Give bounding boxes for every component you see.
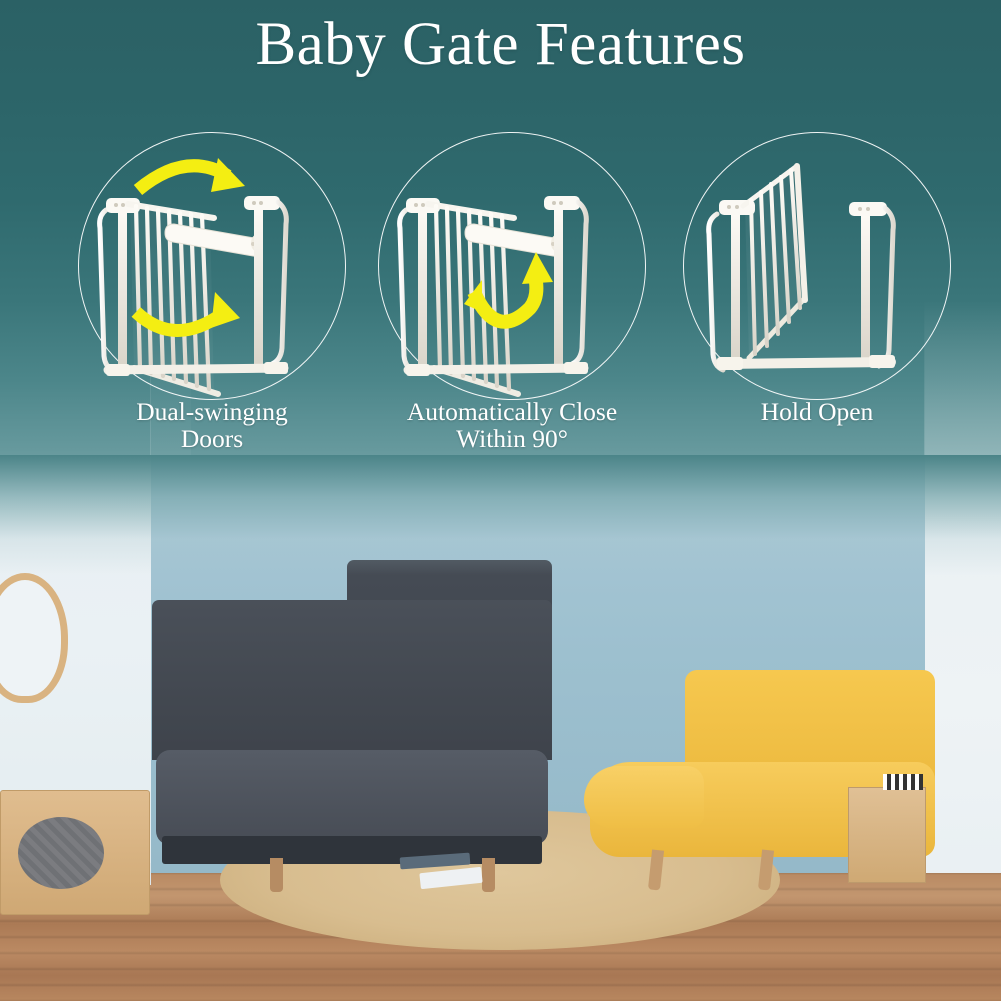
feature-caption-hold-open: Hold Open bbox=[652, 398, 982, 425]
sofa-leg bbox=[482, 858, 495, 892]
sideboard-cabinet bbox=[0, 790, 150, 915]
feature-card-hold-open bbox=[683, 132, 951, 400]
sofa-back bbox=[152, 600, 552, 760]
feature-caption-line-1: Hold Open bbox=[652, 398, 982, 425]
gate-auto-close-icon bbox=[378, 132, 646, 400]
sofa-seat bbox=[156, 750, 548, 845]
feature-caption-line-1: Automatically Close bbox=[347, 398, 677, 425]
feature-caption-line-1: Dual-swinging bbox=[47, 398, 377, 425]
sideboard-round-panel bbox=[18, 817, 104, 889]
wooden-box bbox=[848, 787, 926, 883]
yellow-sofa-arm bbox=[584, 766, 704, 828]
gate-hold-open-icon bbox=[683, 132, 951, 400]
feature-card-automatically-close bbox=[378, 132, 646, 400]
sofa-leg bbox=[270, 858, 283, 892]
grey-sofa bbox=[152, 600, 552, 880]
feature-caption-line-2: Doors bbox=[47, 425, 377, 452]
feature-caption-automatically-close: Automatically Close Within 90° bbox=[347, 398, 677, 452]
room-photo bbox=[0, 455, 1001, 1001]
feature-card-dual-swinging-doors bbox=[78, 132, 346, 400]
infographic-canvas: Baby Gate Features bbox=[0, 0, 1001, 1001]
feature-caption-dual-swinging-doors: Dual-swinging Doors bbox=[47, 398, 377, 452]
gate-dual-swing-icon bbox=[78, 132, 346, 400]
feature-caption-line-2: Within 90° bbox=[347, 425, 677, 452]
page-title: Baby Gate Features bbox=[0, 9, 1001, 81]
checkered-item bbox=[883, 774, 923, 790]
